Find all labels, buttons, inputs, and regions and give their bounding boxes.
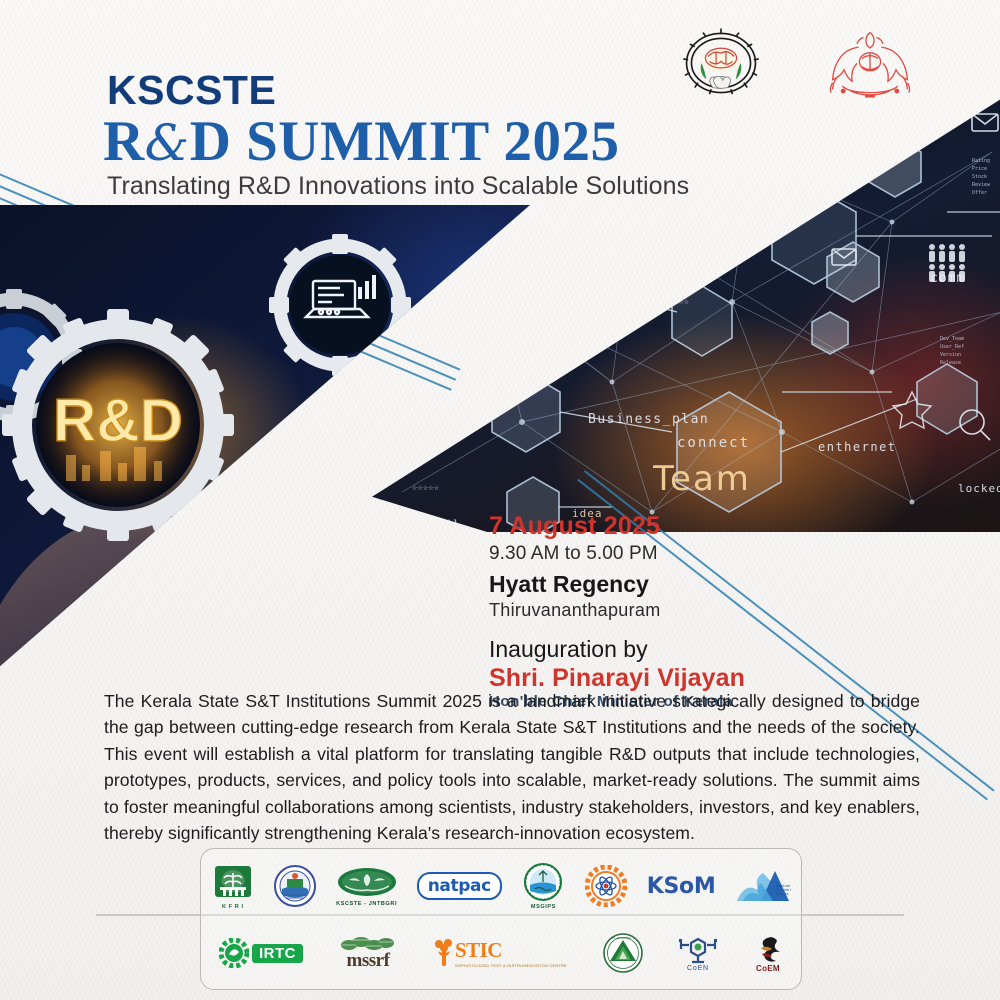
network-label-team: Team bbox=[652, 459, 751, 499]
sponsor-stic-wordmark: STIC bbox=[455, 938, 502, 963]
event-venue: Hyatt Regency bbox=[489, 570, 819, 599]
kfri-logo-icon bbox=[211, 863, 255, 903]
rd-badge-text: R&D bbox=[53, 387, 183, 454]
sponsor-jntbgri[interactable]: KSCSTE - JNTBGRI bbox=[336, 866, 397, 907]
network-label-enthernet: enthernet bbox=[818, 440, 897, 454]
network-label-locked: locked bbox=[958, 482, 1000, 495]
network-label-connect: connect bbox=[677, 435, 750, 451]
svg-text:Release: Release bbox=[940, 360, 961, 366]
title-part2: D SUMMIT 2025 bbox=[190, 110, 620, 173]
sponsor-stic-subcaption: SOPHISTICATED TEST & INSTRUMENTATION CEN… bbox=[455, 963, 567, 968]
sponsor-kfri-caption: K F R I bbox=[222, 904, 244, 910]
mountain-logo-icon: Institute for Climate Change Studies bbox=[735, 865, 791, 907]
sponsor-msgips[interactable]: MSGIPS bbox=[521, 863, 565, 910]
network-label-business-plan: Business_plan bbox=[588, 412, 709, 427]
sponsor-coen-caption: CoEN bbox=[687, 965, 709, 972]
sponsor-irtc-wordmark: IRTC bbox=[252, 944, 303, 963]
coen-logo-icon bbox=[679, 935, 717, 965]
poster-root: KSCSTE R&D SUMMIT 2025 Translating R&D I… bbox=[0, 0, 1000, 1000]
page-title: R&D SUMMIT 2025 bbox=[103, 113, 743, 171]
sponsor-logo-box: K F R I bbox=[200, 848, 802, 990]
svg-text:Version: Version bbox=[940, 352, 961, 358]
network-label-mail: mail bbox=[432, 519, 460, 530]
sponsor-msgips-caption: MSGIPS bbox=[531, 904, 556, 910]
sponsor-jntbgri-caption: KSCSTE - JNTBGRI bbox=[336, 901, 397, 907]
coem-logo-icon bbox=[753, 934, 783, 964]
kerala-government-emblem bbox=[805, 26, 935, 104]
sponsor-natpac-wordmark: natpac bbox=[417, 872, 502, 900]
svg-text:☆☆☆☆☆: ☆☆☆☆☆ bbox=[662, 297, 690, 307]
svg-text:Stock: Stock bbox=[972, 174, 987, 180]
sponsor-coem-caption: CoEM bbox=[756, 964, 780, 973]
svg-text:User_Ref: User_Ref bbox=[940, 344, 964, 350]
svg-text:Review: Review bbox=[972, 182, 991, 188]
sponsor-irtc[interactable]: IRTC bbox=[219, 938, 303, 968]
svg-text:Dev_Team: Dev_Team bbox=[940, 336, 964, 342]
sponsor-ksom[interactable]: KSoM bbox=[647, 874, 716, 899]
gear-atom-logo-icon bbox=[585, 865, 627, 907]
sponsor-mssrf-wordmark: mssrf bbox=[347, 952, 390, 969]
advanced-training-logo-icon: OF ADVANCED bbox=[603, 933, 643, 973]
svg-text:☆☆☆☆☆: ☆☆☆☆☆ bbox=[412, 483, 440, 493]
sponsor-mountain-institute[interactable]: Institute for Climate Change Studies bbox=[735, 865, 791, 907]
kscste-institute-logo-icon bbox=[274, 865, 316, 907]
sponsor-kscste-institute[interactable] bbox=[274, 865, 316, 907]
irtc-logo-icon bbox=[219, 938, 249, 968]
sponsor-mssrf[interactable]: mssrf bbox=[339, 936, 397, 969]
svg-text:OF ADVANCED: OF ADVANCED bbox=[612, 936, 631, 940]
sponsor-ksom-wordmark: KSoM bbox=[647, 874, 716, 899]
event-details: 7 August 2025 9.30 AM to 5.00 PM Hyatt R… bbox=[489, 512, 819, 712]
inauguration-label: Inauguration by bbox=[489, 636, 819, 664]
description-paragraph: The Kerala State S&T Institutions Summit… bbox=[104, 688, 920, 846]
sponsor-row-2: IRTC mssrf bbox=[201, 923, 801, 983]
svg-text:Offer: Offer bbox=[972, 190, 987, 196]
title-block: KSCSTE R&D SUMMIT 2025 Translating R&D I… bbox=[103, 70, 743, 201]
svg-text:Rating: Rating bbox=[972, 158, 990, 164]
jntbgri-logo-icon bbox=[337, 866, 397, 900]
sponsor-natpac[interactable]: natpac bbox=[417, 872, 502, 900]
sponsor-row-1: K F R I bbox=[201, 855, 801, 917]
title-part1: R bbox=[103, 110, 145, 173]
sponsor-coem[interactable]: CoEM bbox=[753, 934, 783, 973]
sponsor-kfri[interactable]: K F R I bbox=[211, 863, 255, 910]
sponsor-advanced-training-institute[interactable]: OF ADVANCED bbox=[603, 933, 643, 973]
svg-text:Studies: Studies bbox=[776, 892, 789, 896]
sponsor-stic[interactable]: STIC SOPHISTICATED TEST & INSTRUMENTATIO… bbox=[433, 938, 567, 968]
tagline: Translating R&D Innovations into Scalabl… bbox=[107, 173, 743, 201]
event-city: Thiruvananthapuram bbox=[489, 599, 819, 622]
event-time: 9.30 AM to 5.00 PM bbox=[489, 541, 819, 567]
sponsor-gear-atom-institute[interactable] bbox=[585, 865, 627, 907]
title-ampersand: & bbox=[145, 114, 190, 172]
event-date: 7 August 2025 bbox=[489, 512, 819, 541]
stic-torch-icon bbox=[433, 938, 455, 968]
network-label-message: message bbox=[742, 131, 804, 146]
organisation-name: KSCSTE bbox=[107, 70, 743, 111]
svg-text:Price: Price bbox=[972, 166, 987, 172]
msgips-logo-icon bbox=[521, 863, 565, 903]
sponsor-coen[interactable]: CoEN bbox=[679, 935, 717, 972]
